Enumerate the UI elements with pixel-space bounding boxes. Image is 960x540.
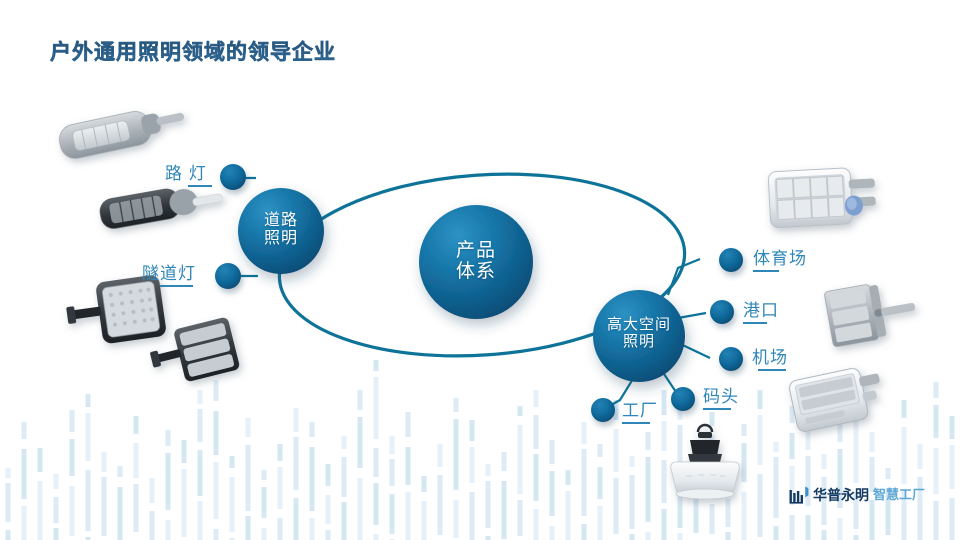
label-underline xyxy=(743,322,767,324)
label-underline xyxy=(753,270,779,272)
dot-airport xyxy=(719,347,743,371)
label-wharf[interactable]: 码头 xyxy=(703,388,739,410)
label-underline xyxy=(160,285,193,287)
high-bay-light-product-image xyxy=(671,425,740,499)
label-tunnel-lamp[interactable]: 隧道灯 xyxy=(142,265,196,287)
page-title: 户外通用照明领域的领导企业 xyxy=(50,36,336,66)
road-lighting-node[interactable] xyxy=(238,188,324,274)
logo-sub-name: 智慧工厂 xyxy=(873,488,925,502)
label-underline xyxy=(622,422,650,424)
label-factory[interactable]: 工厂 xyxy=(622,402,658,424)
label-underline xyxy=(758,369,786,371)
street-light-product-image xyxy=(98,180,224,231)
label-airport-text: 机场 xyxy=(752,348,788,367)
street-light-product-image xyxy=(57,101,188,161)
dot-street-lamp xyxy=(220,164,246,190)
slide-canvas: 户外通用照明领域的领导企业 xyxy=(0,0,960,540)
label-port-text: 港口 xyxy=(743,301,779,320)
label-tunnel-lamp-text: 隧道灯 xyxy=(142,264,196,283)
factory-bars-icon xyxy=(789,486,809,504)
port-flood-light-product-image xyxy=(824,277,919,347)
dot-factory xyxy=(591,398,615,422)
label-street-lamp[interactable]: 路 灯 xyxy=(165,165,212,187)
label-airport[interactable]: 机场 xyxy=(752,349,788,371)
stadium-flood-light-product-image xyxy=(768,166,877,227)
center-node[interactable] xyxy=(419,205,533,319)
dot-wharf xyxy=(671,387,695,411)
dot-port xyxy=(710,300,734,324)
logo-company-name: 华普永明 xyxy=(813,488,869,502)
label-stadium[interactable]: 体育场 xyxy=(753,250,807,272)
label-street-lamp-text: 路 灯 xyxy=(165,164,207,183)
company-logo: 华普永明 智慧工厂 xyxy=(789,486,925,504)
label-underline xyxy=(703,408,731,410)
label-factory-text: 工厂 xyxy=(622,401,658,420)
label-port[interactable]: 港口 xyxy=(743,302,779,324)
label-stadium-text: 体育场 xyxy=(753,249,807,268)
label-wharf-text: 码头 xyxy=(703,387,739,406)
high-space-lighting-node[interactable] xyxy=(593,290,685,382)
airport-flood-light-product-image xyxy=(788,363,887,433)
label-underline xyxy=(188,185,212,187)
dot-tunnel-lamp xyxy=(215,263,241,289)
dot-stadium xyxy=(719,248,743,272)
